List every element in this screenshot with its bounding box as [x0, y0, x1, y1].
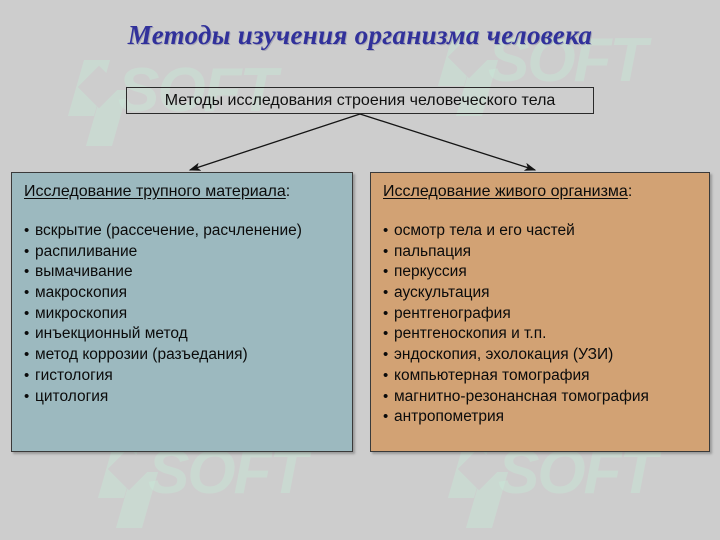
list-item: цитология [24, 387, 344, 408]
panel-cadaver-heading-text: Исследование трупного материала [24, 183, 286, 200]
list-item: аускультация [383, 283, 701, 304]
list-item: рентгеноскопия и т.п. [383, 324, 701, 345]
list-item: осмотр тела и его частей [383, 221, 701, 242]
panel-living-list: осмотр тела и его частей пальпация перку… [379, 221, 701, 428]
list-item: инъекционный метод [24, 324, 344, 345]
list-item: вскрытие (рассечение, расчленение) [24, 221, 344, 242]
panel-living-heading: Исследование живого организма: [383, 183, 701, 201]
watermark-logo [450, 440, 508, 532]
panel-cadaver-list: вскрытие (рассечение, расчленение) распи… [20, 221, 344, 407]
panel-cadaver-research: Исследование трупного материала: вскрыти… [11, 172, 353, 452]
list-item: перкуссия [383, 262, 701, 283]
root-concept-box: Методы исследования строения человеческо… [126, 87, 594, 114]
panel-cadaver-heading-colon: : [286, 183, 290, 200]
list-item: макроскопия [24, 283, 344, 304]
slide-canvas: SOFT SOFT SOFT SOFT SOFT SOFT Методы изу… [0, 0, 720, 540]
watermark-logo [100, 440, 158, 532]
arrow-to-left-panel [190, 114, 360, 170]
list-item: рентгенография [383, 304, 701, 325]
list-item: распиливание [24, 242, 344, 263]
panel-cadaver-heading: Исследование трупного материала: [24, 183, 344, 201]
list-item: компьютерная томография [383, 366, 701, 387]
panel-living-organism-research: Исследование живого организма: осмотр те… [370, 172, 710, 452]
list-item: микроскопия [24, 304, 344, 325]
list-item: гистология [24, 366, 344, 387]
arrow-to-right-panel [360, 114, 535, 170]
page-title: Методы изучения организма человека [0, 20, 720, 51]
list-item: пальпация [383, 242, 701, 263]
list-item: метод коррозии (разъедания) [24, 345, 344, 366]
root-concept-label: Методы исследования строения человеческо… [165, 92, 556, 110]
list-item: вымачивание [24, 262, 344, 283]
watermark-logo [70, 58, 128, 150]
panel-living-heading-colon: : [628, 183, 632, 200]
list-item: магнитно-резонансная томография [383, 387, 701, 408]
panel-living-heading-text: Исследование живого организма [383, 183, 628, 200]
list-item: антропометрия [383, 407, 701, 428]
list-item: эндоскопия, эхолокация (УЗИ) [383, 345, 701, 366]
